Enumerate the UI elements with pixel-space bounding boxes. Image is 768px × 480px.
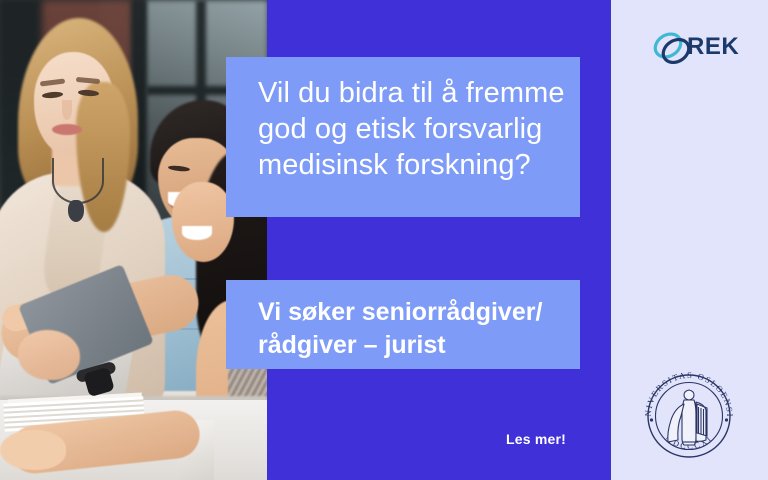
university-seal-icon: UNIVERSITAS OSLOENSIS MDCCCXI [637, 364, 741, 468]
question-line-2: god og etisk forsvarlig [258, 111, 580, 147]
rek-wordmark: REK [687, 33, 739, 61]
rek-logo[interactable]: REK [651, 28, 741, 68]
question-line-3: medisinsk forskning? [258, 147, 580, 183]
job-title-line-1: Vi søker seniorrådgiver/ [258, 296, 580, 329]
job-title-textbox: Vi søker seniorrådgiver/ rådgiver – juri… [226, 280, 580, 369]
uio-seal: UNIVERSITAS OSLOENSIS MDCCCXI [637, 364, 741, 468]
read-more-link[interactable]: Les mer! [506, 431, 566, 447]
question-line-1: Vil du bidra til å fremme [258, 75, 580, 111]
question-textbox: Vil du bidra til å fremme god og etisk f… [226, 57, 580, 217]
recruitment-banner: Vil du bidra til å fremme god og etisk f… [0, 0, 768, 480]
job-title-line-2: rådgiver – jurist [258, 329, 580, 362]
